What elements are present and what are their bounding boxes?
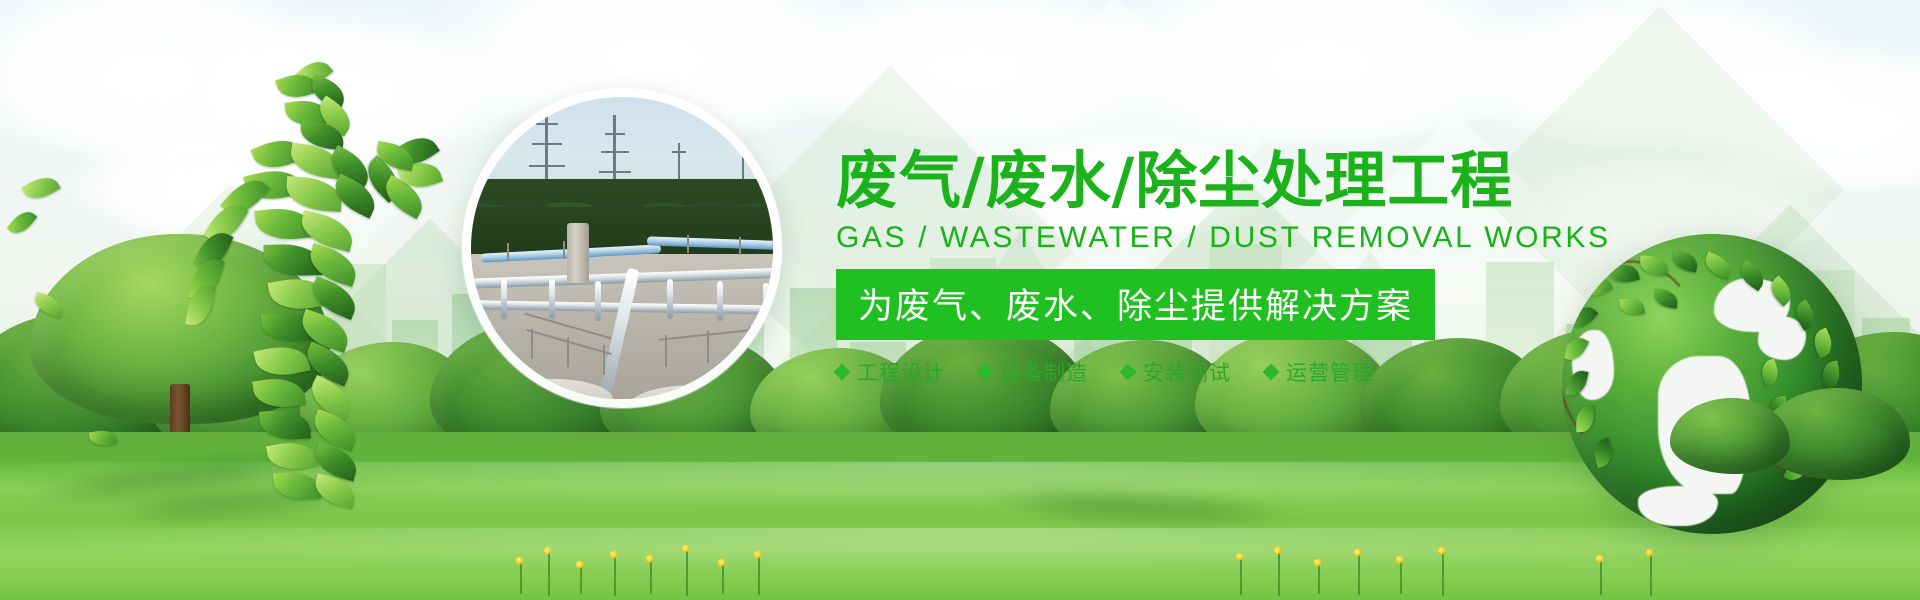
pipe-support (667, 279, 673, 319)
flower-bloom (544, 547, 551, 554)
flower-patch-layer (0, 508, 1920, 600)
flower-bloom (646, 555, 653, 562)
leaf-shape (1701, 251, 1734, 279)
flower-stem (1400, 559, 1402, 594)
flower-stem (722, 562, 724, 594)
handrail (603, 345, 605, 375)
tagline-text: 为废气、废水、除尘提供解决方案 (858, 287, 1413, 327)
leaf-shape (305, 243, 362, 287)
flower-bloom (1354, 549, 1361, 556)
pipe-support (717, 281, 723, 321)
feature-list: 工程设计 设备制造 安装调试 运营管理 (836, 357, 1626, 387)
tagline-ribbon: 为废气、废水、除尘提供解决方案 (836, 269, 1435, 340)
flower-bloom (1274, 547, 1281, 554)
diamond-bullet-icon (834, 364, 851, 381)
pipe-support (501, 279, 507, 319)
ocean-highlight (1638, 486, 1718, 526)
flower-stem (548, 550, 550, 596)
leaf-shape (266, 438, 318, 474)
feature-item-installation-commissioning[interactable]: 安装调试 (1122, 357, 1231, 387)
flower-bloom (576, 561, 583, 568)
page-subtitle: GAS / WASTEWATER / DUST REMOVAL WORKS (836, 221, 1626, 255)
flower-stem (686, 548, 688, 596)
diamond-bullet-icon (1120, 364, 1137, 381)
flower-bloom (682, 545, 689, 552)
handrail (665, 335, 667, 367)
leaf-man-running-figure (150, 58, 440, 510)
leaf-shape (309, 409, 362, 451)
leaf-shape (297, 210, 357, 252)
handrail (739, 237, 741, 255)
banner-text-block: 废气/废水/除尘处理工程 GAS / WASTEWATER / DUST REM… (836, 150, 1626, 387)
handrail (567, 337, 569, 367)
feature-label: 运营管理 (1286, 357, 1374, 387)
flower-stem (1278, 550, 1280, 596)
handrail (707, 331, 709, 363)
pipe-support (549, 279, 555, 319)
leaf-shape (1670, 249, 1699, 272)
flower-stem (580, 564, 582, 594)
flower-stem (758, 555, 760, 595)
leaf-shape (253, 341, 310, 381)
eco-engineering-banner: 废气/废水/除尘处理工程 GAS / WASTEWATER / DUST REM… (0, 0, 1920, 600)
flower-bloom (516, 557, 523, 564)
leaf-shape (252, 375, 306, 412)
flower-bloom (1314, 559, 1321, 566)
flower-stem (614, 554, 616, 596)
flower-bloom (1646, 549, 1653, 556)
handrail (531, 329, 533, 359)
flower-bloom (718, 559, 725, 566)
flower-bloom (1438, 547, 1445, 554)
pipe-support (763, 283, 769, 323)
flower-bloom (1236, 553, 1243, 560)
feature-label: 安装调试 (1143, 357, 1231, 387)
equipment-tank (567, 223, 589, 283)
wastewater-treatment-plant-photo (462, 88, 782, 408)
flower-stem (1600, 559, 1602, 595)
handrail (563, 241, 565, 259)
pipe-support (595, 281, 601, 321)
leaf-shape (259, 408, 311, 441)
handrail (507, 243, 509, 261)
handrail (749, 327, 751, 359)
flower-stem (1650, 552, 1652, 596)
flower-stem (1358, 553, 1360, 595)
feature-item-engineering-design[interactable]: 工程设计 (836, 357, 945, 387)
flower-bloom (1596, 555, 1603, 562)
leaf-shape (273, 470, 321, 501)
flower-bloom (610, 551, 617, 558)
flower-stem (1240, 557, 1242, 595)
leaf-shape (285, 176, 343, 212)
flower-stem (520, 560, 522, 594)
page-title: 废气/废水/除尘处理工程 (836, 150, 1626, 212)
feature-label: 设备制造 (1000, 357, 1088, 387)
flower-bloom (754, 551, 761, 558)
flower-stem (1442, 551, 1444, 596)
flower-bloom (1396, 556, 1403, 563)
feature-item-operation-management[interactable]: 运营管理 (1265, 357, 1374, 387)
diamond-bullet-icon (1263, 364, 1280, 381)
feature-item-equipment-manufacturing[interactable]: 设备制造 (979, 357, 1088, 387)
feature-label: 工程设计 (857, 357, 945, 387)
flower-stem (650, 558, 652, 594)
flower-stem (1318, 562, 1320, 594)
diamond-bullet-icon (977, 364, 994, 381)
handrail (687, 235, 689, 253)
